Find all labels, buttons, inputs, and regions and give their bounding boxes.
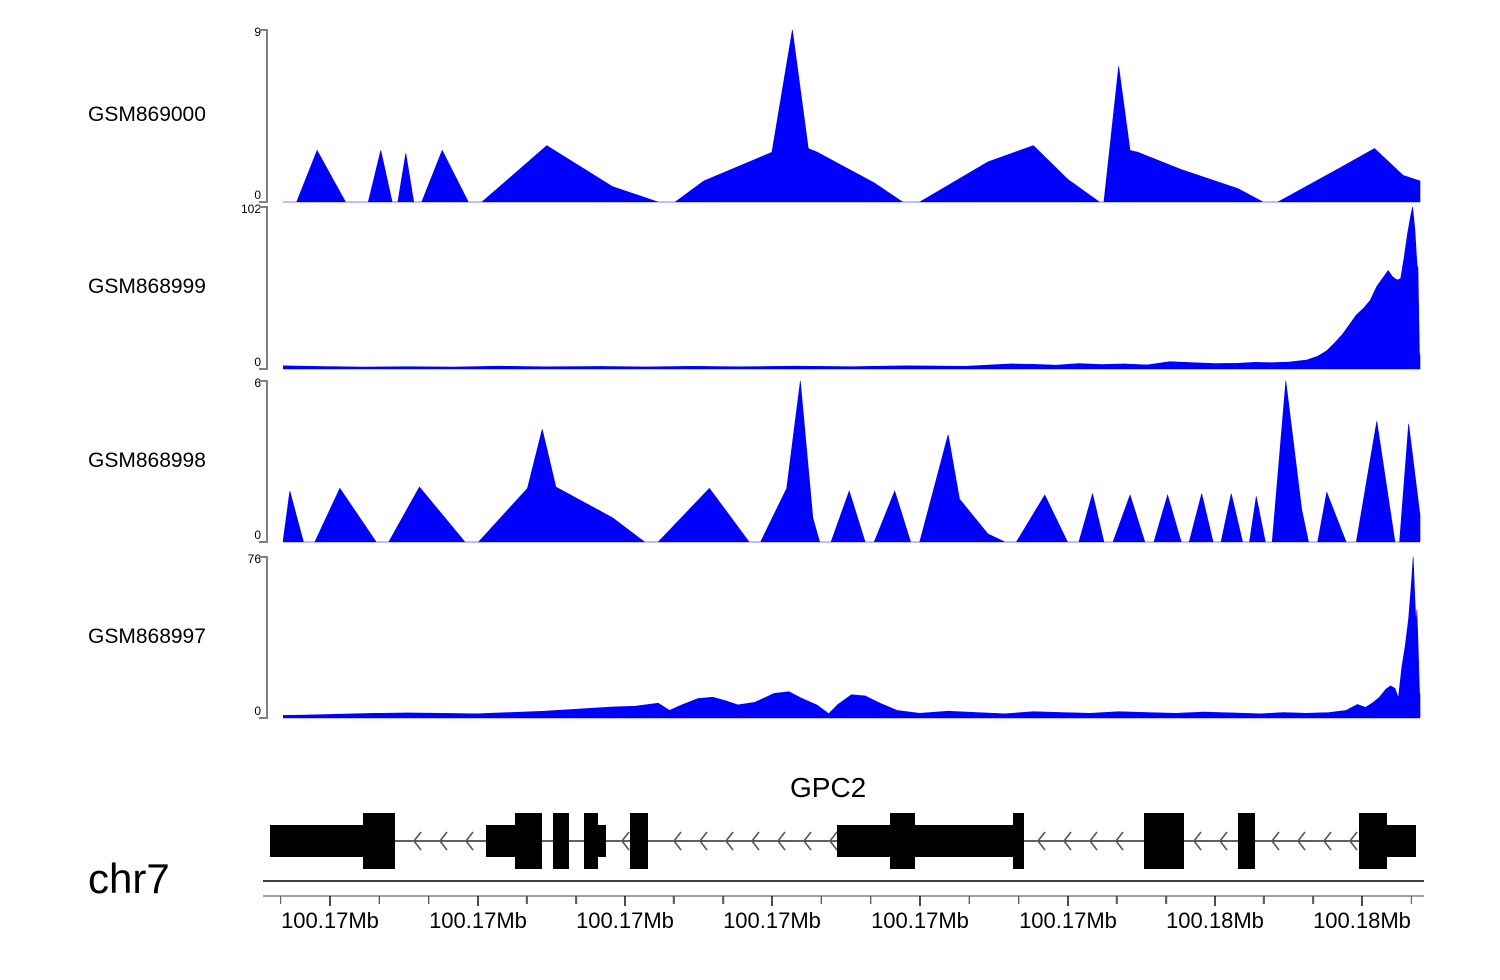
ruler-tick-label: 100.17Mb xyxy=(408,908,548,934)
coverage-area-plot[interactable] xyxy=(283,557,1422,720)
coverage-track[interactable]: GSM8689991020 xyxy=(0,207,1500,369)
ruler-tick-label: 100.17Mb xyxy=(998,908,1138,934)
coverage-area-plot[interactable] xyxy=(283,30,1422,204)
axis-max-value: 76 xyxy=(215,553,261,565)
track-sample-label: GSM869000 xyxy=(88,103,258,127)
coverage-area-plot[interactable] xyxy=(283,207,1422,371)
genome-browser-view: GSM86900090GSM8689991020GSM86899860GSM86… xyxy=(0,0,1500,980)
track-axis-bracket xyxy=(257,28,281,204)
gene-name-label: GPC2 xyxy=(790,772,866,804)
ruler-tick-label: 100.17Mb xyxy=(555,908,695,934)
track-axis-bracket xyxy=(257,379,281,544)
coverage-track[interactable]: GSM868997760 xyxy=(0,557,1500,718)
axis-min-value: 0 xyxy=(215,356,261,368)
axis-max-value: 6 xyxy=(215,377,261,389)
ruler-tick-label: 100.18Mb xyxy=(1145,908,1285,934)
gene-model-svg[interactable] xyxy=(0,805,1500,877)
ruler-svg[interactable] xyxy=(0,874,1500,906)
axis-max-value: 9 xyxy=(215,26,261,38)
ruler-tick-label: 100.18Mb xyxy=(1292,908,1432,934)
track-axis-bracket xyxy=(257,555,281,720)
axis-max-value: 102 xyxy=(215,203,261,215)
axis-min-value: 0 xyxy=(215,705,261,717)
coverage-track[interactable]: GSM86900090 xyxy=(0,30,1500,202)
axis-min-value: 0 xyxy=(215,529,261,541)
track-sample-label: GSM868998 xyxy=(88,449,258,473)
track-sample-label: GSM868997 xyxy=(88,625,258,649)
ruler-tick-label: 100.17Mb xyxy=(260,908,400,934)
coverage-area-plot[interactable] xyxy=(283,381,1422,544)
track-axis-bracket xyxy=(257,205,281,371)
track-sample-label: GSM868999 xyxy=(88,275,258,299)
ruler-tick-label: 100.17Mb xyxy=(702,908,842,934)
axis-min-value: 0 xyxy=(215,189,261,201)
ruler-tick-label: 100.17Mb xyxy=(850,908,990,934)
coverage-track[interactable]: GSM86899860 xyxy=(0,381,1500,542)
